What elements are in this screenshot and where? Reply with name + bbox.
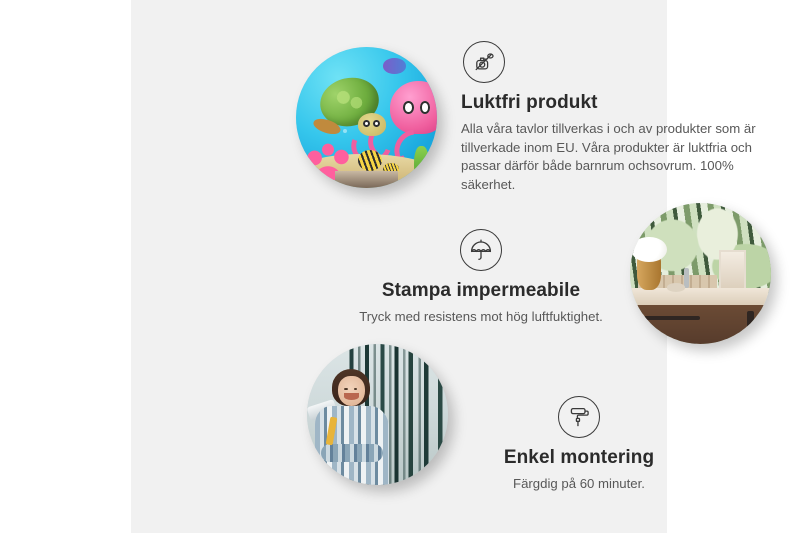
feature-assembly: Enkel montering Färgdig på 60 minuter. bbox=[449, 396, 709, 494]
yellow-fish-icon bbox=[358, 150, 382, 171]
faucet-icon bbox=[684, 268, 690, 288]
ocean-scene bbox=[296, 47, 437, 188]
forest-scene bbox=[307, 344, 448, 485]
flowers-icon bbox=[631, 237, 666, 262]
framed-print bbox=[719, 250, 746, 291]
woman-face bbox=[338, 376, 365, 406]
purple-fish-icon bbox=[383, 58, 406, 74]
feature-odourless: Luktfri produkt Alla våra tavlor tillver… bbox=[461, 41, 761, 195]
product-photo-forest[interactable] bbox=[307, 344, 448, 485]
feature-waterproof: Stampa impermeabile Tryck med resistens … bbox=[336, 229, 626, 327]
feature-description: Alla våra tavlor tillverkas i och av pro… bbox=[461, 120, 761, 195]
no-odour-spray-bottle-icon bbox=[463, 41, 505, 83]
content-panel: Luktfri produkt Alla våra tavlor tillver… bbox=[131, 0, 667, 533]
bubble-icon bbox=[343, 129, 347, 133]
umbrella-icon bbox=[460, 229, 502, 271]
feature-title: Enkel montering bbox=[449, 447, 709, 469]
soap-dish-icon bbox=[667, 283, 685, 291]
paint-roller-icon bbox=[558, 396, 600, 438]
turtle-head-icon bbox=[358, 113, 386, 136]
screenshot-root: Luktfri produkt Alla våra tavlor tillver… bbox=[0, 0, 800, 533]
feature-title: Luktfri produkt bbox=[461, 92, 761, 114]
woman-folded-arms bbox=[321, 444, 383, 462]
feature-title: Stampa impermeabile bbox=[336, 280, 626, 302]
product-photo-ocean[interactable] bbox=[296, 47, 437, 188]
vanity-cabinet bbox=[633, 305, 771, 344]
bathroom-scene bbox=[630, 203, 771, 344]
furniture-silhouette bbox=[335, 171, 397, 188]
feature-description: Tryck med resistens mot hög luftfuktighe… bbox=[336, 308, 626, 327]
product-photo-bathroom[interactable] bbox=[630, 203, 771, 344]
seaweed-icon bbox=[414, 146, 428, 183]
feature-description: Färgdig på 60 minuter. bbox=[449, 475, 709, 494]
